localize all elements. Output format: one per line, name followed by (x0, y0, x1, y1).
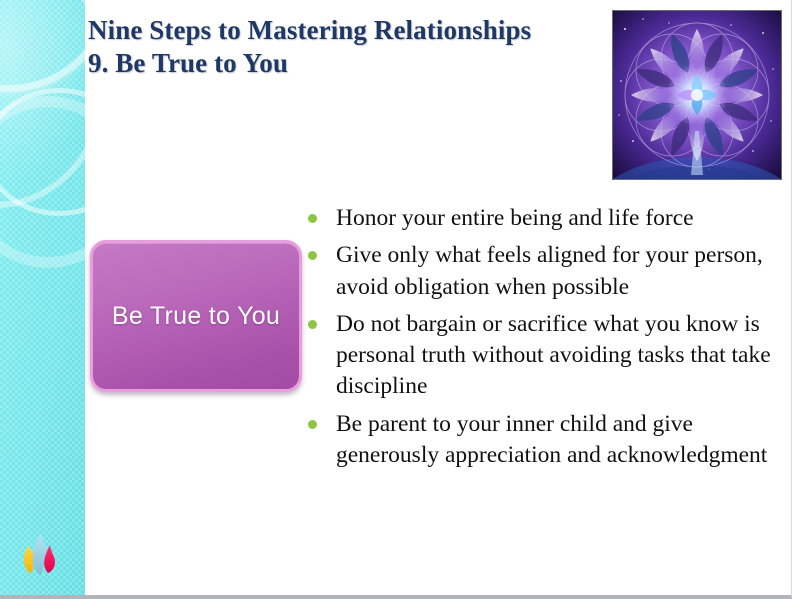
bullet-marker-icon (308, 251, 317, 260)
title-line-1: Nine Steps to Mastering Relationships (88, 14, 608, 47)
title-line-2: 9. Be True to You (88, 47, 608, 80)
cosmic-mandala-image (612, 10, 782, 180)
sidebar-glow (0, 0, 85, 200)
list-item: Be parent to your inner child and give g… (304, 409, 786, 472)
bullet-text: Give only what feels aligned for your pe… (336, 240, 786, 303)
bullet-text: Do not bargain or sacrifice what you kno… (336, 309, 786, 403)
be-true-to-you-callout[interactable]: Be True to You (90, 240, 302, 392)
bullet-text: Be parent to your inner child and give g… (336, 409, 786, 472)
cyan-rings-sidebar (0, 0, 85, 595)
bullet-text: Honor your entire being and life force (336, 203, 786, 234)
callout-label: Be True to You (112, 302, 280, 331)
list-item: Do not bargain or sacrifice what you kno… (304, 309, 786, 403)
flame-logo (14, 519, 66, 577)
slide-canvas: Nine Steps to Mastering Relationships 9.… (0, 0, 792, 599)
bullet-marker-icon (308, 214, 317, 223)
slide-title: Nine Steps to Mastering Relationships 9.… (88, 14, 608, 80)
list-item: Honor your entire being and life force (304, 203, 786, 234)
bullet-marker-icon (308, 420, 317, 429)
bullet-marker-icon (308, 320, 317, 329)
bullet-list: Honor your entire being and life force G… (304, 203, 786, 477)
list-item: Give only what feels aligned for your pe… (304, 240, 786, 303)
